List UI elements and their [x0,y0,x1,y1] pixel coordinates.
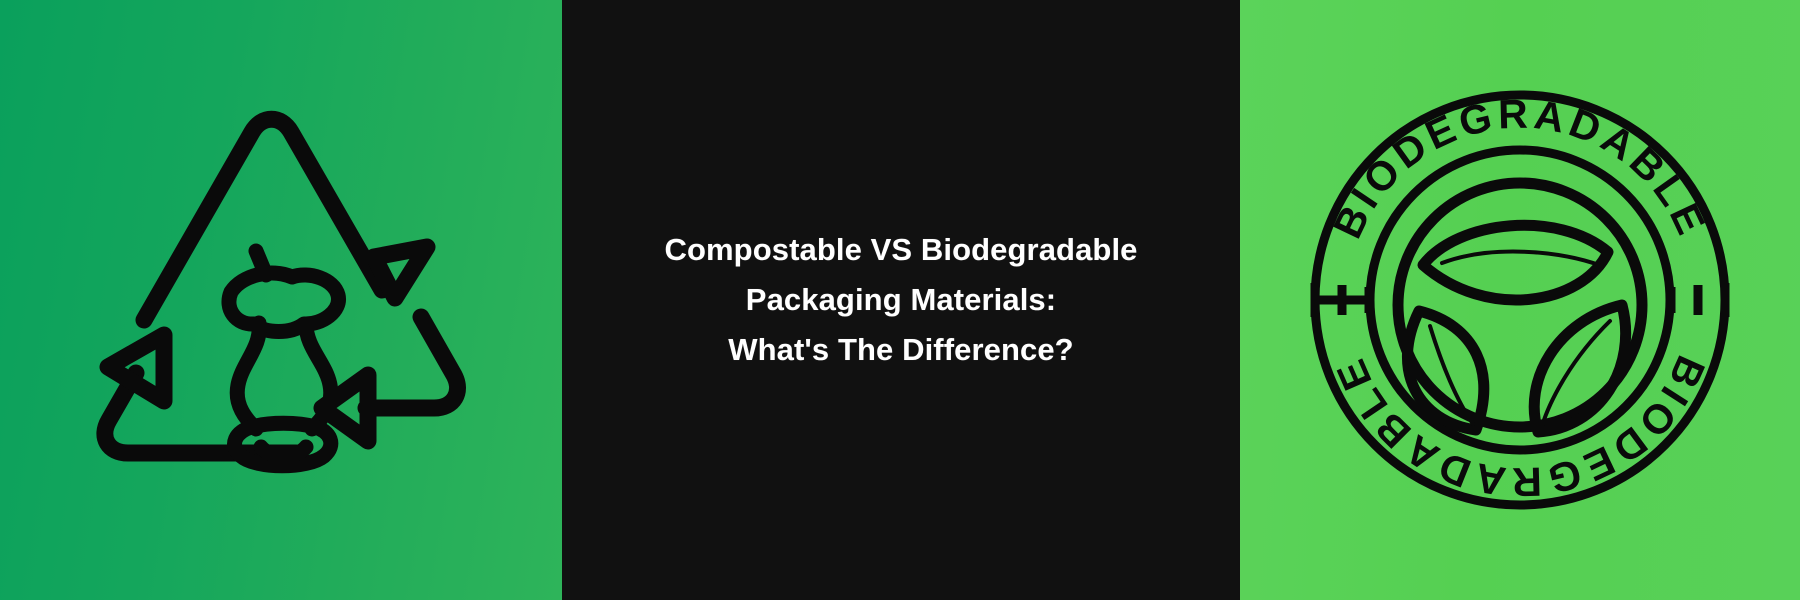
headline-line-2: Packaging Materials: [664,275,1137,325]
left-panel-compostable [0,0,562,600]
page-title: Compostable VS Biodegradable Packaging M… [642,225,1159,376]
banner-root: Compostable VS Biodegradable Packaging M… [0,0,1800,600]
right-panel-biodegradable: BIODEGRADABLE BIODEGRADABLE [1240,0,1800,600]
recycling-triangle-with-apple-core-icon [66,85,496,515]
biodegradable-stamp-icon: BIODEGRADABLE BIODEGRADABLE [1290,70,1750,530]
headline-line-3: What's The Difference? [664,325,1137,375]
center-panel-headline: Compostable VS Biodegradable Packaging M… [562,0,1240,600]
headline-line-1: Compostable VS Biodegradable [664,225,1137,275]
